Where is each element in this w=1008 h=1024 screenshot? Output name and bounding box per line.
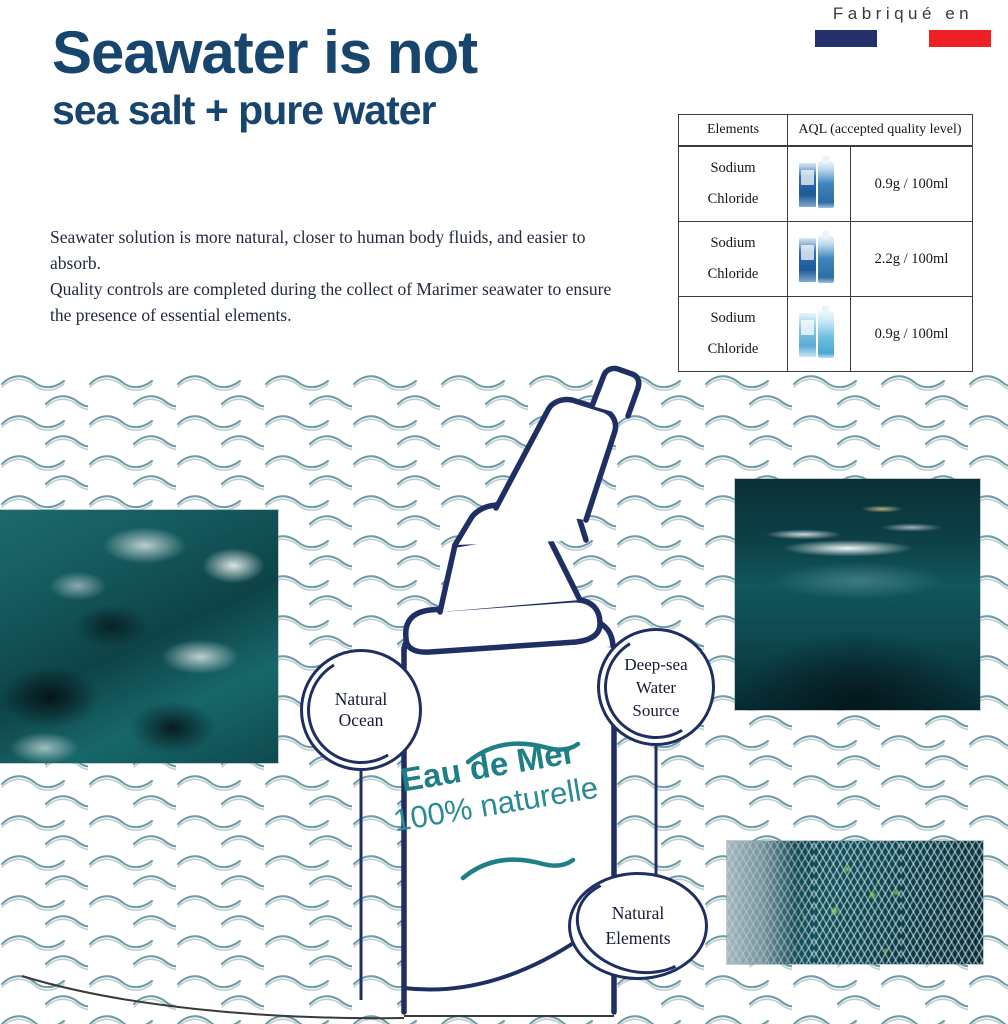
- element-name-line-2: Chloride: [681, 334, 785, 365]
- table-cell-element: Sodium Chloride: [679, 222, 788, 297]
- callout-line-2: Elements: [605, 926, 670, 951]
- table-header-aql: AQL (accepted quality level): [788, 115, 973, 147]
- french-flag-icon: [798, 30, 1008, 47]
- table-row: Sodium Chloride 0.9g / 100ml: [679, 297, 973, 372]
- made-in-france-block: Fabriqué en: [798, 2, 1008, 47]
- element-name-line-2: Chloride: [681, 259, 785, 290]
- nasal-spray-icon: [796, 159, 842, 209]
- table-header-elements: Elements: [679, 115, 788, 147]
- callout-deep-sea-text: Deep-sea Water Source: [624, 653, 687, 722]
- callout-line-1: Natural: [335, 689, 387, 710]
- body-paragraph-1: Seawater solution is more natural, close…: [50, 224, 630, 276]
- table-cell-product-image: [788, 146, 851, 222]
- infographic-page: Fabriqué en Seawater is not sea salt + p…: [0, 0, 1008, 1024]
- callout-line-1: Deep-sea: [624, 653, 687, 676]
- table-cell-element: Sodium Chloride: [679, 297, 788, 372]
- product-bottle-icon: [818, 311, 834, 358]
- table-cell-aql: 2.2g / 100ml: [851, 222, 973, 297]
- callout-line-2: Ocean: [335, 710, 387, 731]
- table-header-row: Elements AQL (accepted quality level): [679, 115, 973, 147]
- product-box-icon: [799, 238, 816, 282]
- table-cell-aql: 0.9g / 100ml: [851, 146, 973, 222]
- aql-table: Elements AQL (accepted quality level) So…: [678, 114, 973, 372]
- table-cell-element: Sodium Chloride: [679, 146, 788, 222]
- headline-line-1: Seawater is not: [52, 22, 477, 84]
- body-copy: Seawater solution is more natural, close…: [50, 224, 630, 328]
- callout-deep-sea-water-source: Deep-sea Water Source: [597, 628, 715, 746]
- flag-bar-blue-icon: [815, 30, 877, 47]
- callout-line-3: Source: [624, 699, 687, 722]
- callout-line-1: Natural: [605, 901, 670, 926]
- table-cell-aql: 0.9g / 100ml: [851, 297, 973, 372]
- product-box-icon: [799, 163, 816, 207]
- underwater-surface-photo: [735, 479, 980, 710]
- callout-natural-ocean: Natural Ocean: [300, 649, 422, 771]
- callout-natural-elements: Natural Elements: [568, 872, 708, 980]
- element-name-line-1: Sodium: [681, 153, 785, 184]
- page-title: Seawater is not sea salt + pure water: [52, 22, 477, 136]
- callout-natural-ocean-text: Natural Ocean: [335, 689, 387, 731]
- callout-natural-elements-text: Natural Elements: [605, 901, 670, 951]
- nasal-spray-icon: [796, 309, 842, 359]
- ocean-surface-photo: [0, 510, 278, 763]
- element-name-line-1: Sodium: [681, 303, 785, 334]
- product-bottle-icon: [818, 161, 834, 208]
- callout-line-2: Water: [624, 676, 687, 699]
- table-row: Sodium Chloride 0.9g / 100ml: [679, 146, 973, 222]
- product-box-icon: [799, 313, 816, 357]
- nasal-spray-icon: [796, 234, 842, 284]
- element-name-line-1: Sodium: [681, 228, 785, 259]
- body-paragraph-2: Quality controls are completed during th…: [50, 276, 630, 328]
- flag-bar-red-icon: [929, 30, 991, 47]
- headline-line-2: sea salt + pure water: [52, 84, 477, 136]
- made-in-label: Fabriqué en: [798, 2, 1008, 26]
- table-cell-product-image: [788, 222, 851, 297]
- table-cell-product-image: [788, 297, 851, 372]
- product-bottle-icon: [818, 236, 834, 283]
- table-row: Sodium Chloride 2.2g / 100ml: [679, 222, 973, 297]
- element-name-line-2: Chloride: [681, 184, 785, 215]
- filter-mesh-photo: [727, 841, 983, 964]
